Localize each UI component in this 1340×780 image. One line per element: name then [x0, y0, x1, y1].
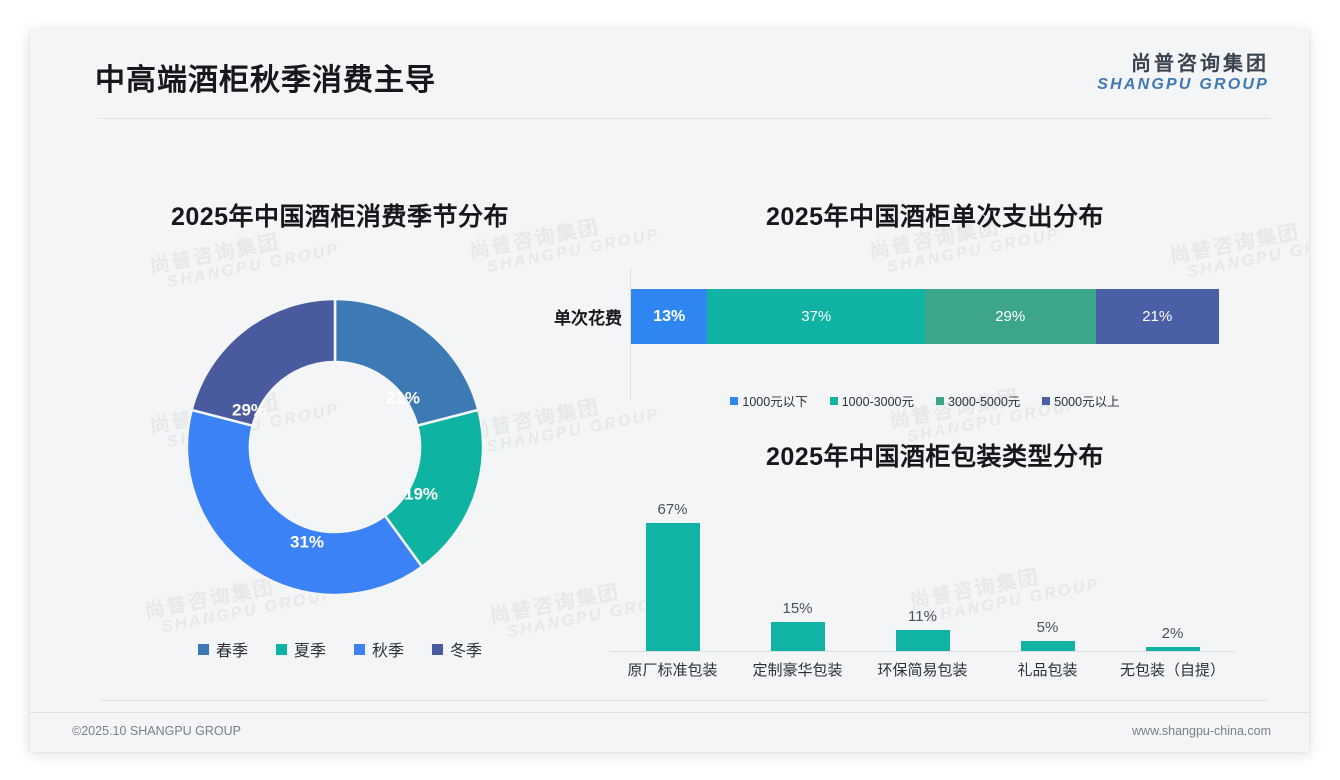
stacked-segment-under-1000[interactable]: 13% — [631, 289, 707, 344]
package-chart-title: 2025年中国酒柜包装类型分布 — [570, 437, 1300, 473]
legend-label: 冬季 — [450, 637, 482, 661]
donut-label-autumn: 31% — [290, 532, 324, 551]
bar-rect[interactable] — [646, 523, 700, 651]
legend-swatch-icon — [276, 644, 287, 655]
legend-item-summer[interactable]: 夏季 — [276, 637, 326, 661]
page-title: 中高端酒柜秋季消费主导 — [95, 55, 436, 99]
donut-label-winter: 29% — [232, 400, 266, 419]
footnote-divider — [100, 700, 1269, 701]
spend-chart-title: 2025年中国酒柜单次支出分布 — [570, 197, 1300, 233]
bar-column[interactable]: 11% — [860, 497, 985, 651]
bar-rect[interactable] — [1021, 641, 1075, 651]
bar-value-label: 5% — [1037, 619, 1059, 636]
x-label: 原厂标准包装 — [610, 659, 735, 680]
legend-label: 3000-5000元 — [948, 391, 1020, 410]
donut-label-spring: 21% — [386, 388, 420, 407]
x-label: 环保简易包装 — [860, 659, 985, 680]
x-label: 无包装（自提） — [1110, 659, 1235, 680]
header-divider — [98, 118, 1271, 119]
donut-graphic: 21% 19% 31% 29% — [165, 277, 505, 617]
bar-value-label: 11% — [908, 608, 937, 625]
legend-label: 夏季 — [294, 637, 326, 661]
brand-name-en: SHANGPU GROUP — [1097, 76, 1269, 94]
legend-swatch-icon — [354, 644, 365, 655]
spend-legend: 1000元以下 1000-3000元 3000-5000元 5000元以上 — [631, 391, 1219, 410]
donut-svg: 21% 19% 31% 29% — [165, 277, 505, 617]
legend-label: 5000元以上 — [1054, 391, 1119, 410]
legend-item-3000-5000[interactable]: 3000-5000元 — [936, 391, 1020, 410]
legend-swatch-icon — [1042, 397, 1050, 405]
donut-label-summer: 19% — [404, 484, 438, 503]
bar-value-label: 15% — [782, 600, 812, 617]
slide-header: 中高端酒柜秋季消费主导 尚普咨询集团 SHANGPU GROUP — [30, 29, 1309, 119]
bar-column[interactable]: 67% — [610, 497, 735, 651]
legend-label: 春季 — [216, 637, 248, 661]
slide-card: 尚普咨询集团 SHANGPU GROUP 尚普咨询集团 SHANGPU GROU… — [30, 29, 1309, 751]
donut-slice-autumn — [187, 410, 422, 595]
package-x-labels: 原厂标准包装 定制豪华包装 环保简易包装 礼品包装 无包装（自提） — [610, 659, 1235, 680]
bar-value-label: 2% — [1162, 625, 1184, 642]
footer-website[interactable]: www.shangpu-china.com — [1132, 724, 1271, 738]
legend-swatch-icon — [198, 644, 209, 655]
stacked-segment-1000-3000[interactable]: 37% — [707, 289, 925, 344]
stacked-category-label: 单次花费 — [522, 304, 622, 329]
bar-column[interactable]: 5% — [985, 497, 1110, 651]
bar-column[interactable]: 2% — [1110, 497, 1235, 651]
legend-item-autumn[interactable]: 秋季 — [354, 637, 404, 661]
package-axis-baseline — [610, 651, 1235, 652]
package-bar-chart: 2025年中国酒柜包装类型分布 67% 15% 11% 5% — [510, 419, 1300, 699]
slide-footer: ©2025.10 SHANGPU GROUP www.shangpu-china… — [30, 712, 1309, 752]
legend-item-spring[interactable]: 春季 — [198, 637, 248, 661]
footer-copyright: ©2025.10 SHANGPU GROUP — [72, 724, 241, 738]
package-plot-area: 67% 15% 11% 5% 2% — [610, 497, 1235, 652]
legend-label: 1000元以下 — [742, 391, 807, 410]
legend-label: 1000-3000元 — [842, 391, 914, 410]
brand-logo: 尚普咨询集团 SHANGPU GROUP — [1097, 53, 1269, 94]
legend-label: 秋季 — [372, 637, 404, 661]
stacked-segment-over-5000[interactable]: 21% — [1096, 289, 1219, 344]
stacked-bar-row: 13% 37% 29% 21% — [631, 289, 1219, 344]
legend-swatch-icon — [936, 397, 944, 405]
brand-name-cn: 尚普咨询集团 — [1097, 53, 1269, 76]
legend-item-winter[interactable]: 冬季 — [432, 637, 482, 661]
x-label: 定制豪华包装 — [735, 659, 860, 680]
legend-swatch-icon — [830, 397, 838, 405]
bar-rect[interactable] — [771, 622, 825, 651]
legend-item-1000-3000[interactable]: 1000-3000元 — [830, 391, 914, 410]
spend-stacked-chart: 2025年中国酒柜单次支出分布 单次花费 13% 37% 29% 21% 100… — [510, 159, 1300, 429]
bar-rect[interactable] — [896, 630, 950, 651]
legend-item-under-1000[interactable]: 1000元以下 — [730, 391, 807, 410]
x-label: 礼品包装 — [985, 659, 1110, 680]
legend-swatch-icon — [730, 397, 738, 405]
bar-value-label: 67% — [657, 501, 687, 518]
bar-column[interactable]: 15% — [735, 497, 860, 651]
legend-item-over-5000[interactable]: 5000元以上 — [1042, 391, 1119, 410]
stacked-segment-3000-5000[interactable]: 29% — [925, 289, 1096, 344]
legend-swatch-icon — [432, 644, 443, 655]
package-bars-row: 67% 15% 11% 5% 2% — [610, 497, 1235, 651]
